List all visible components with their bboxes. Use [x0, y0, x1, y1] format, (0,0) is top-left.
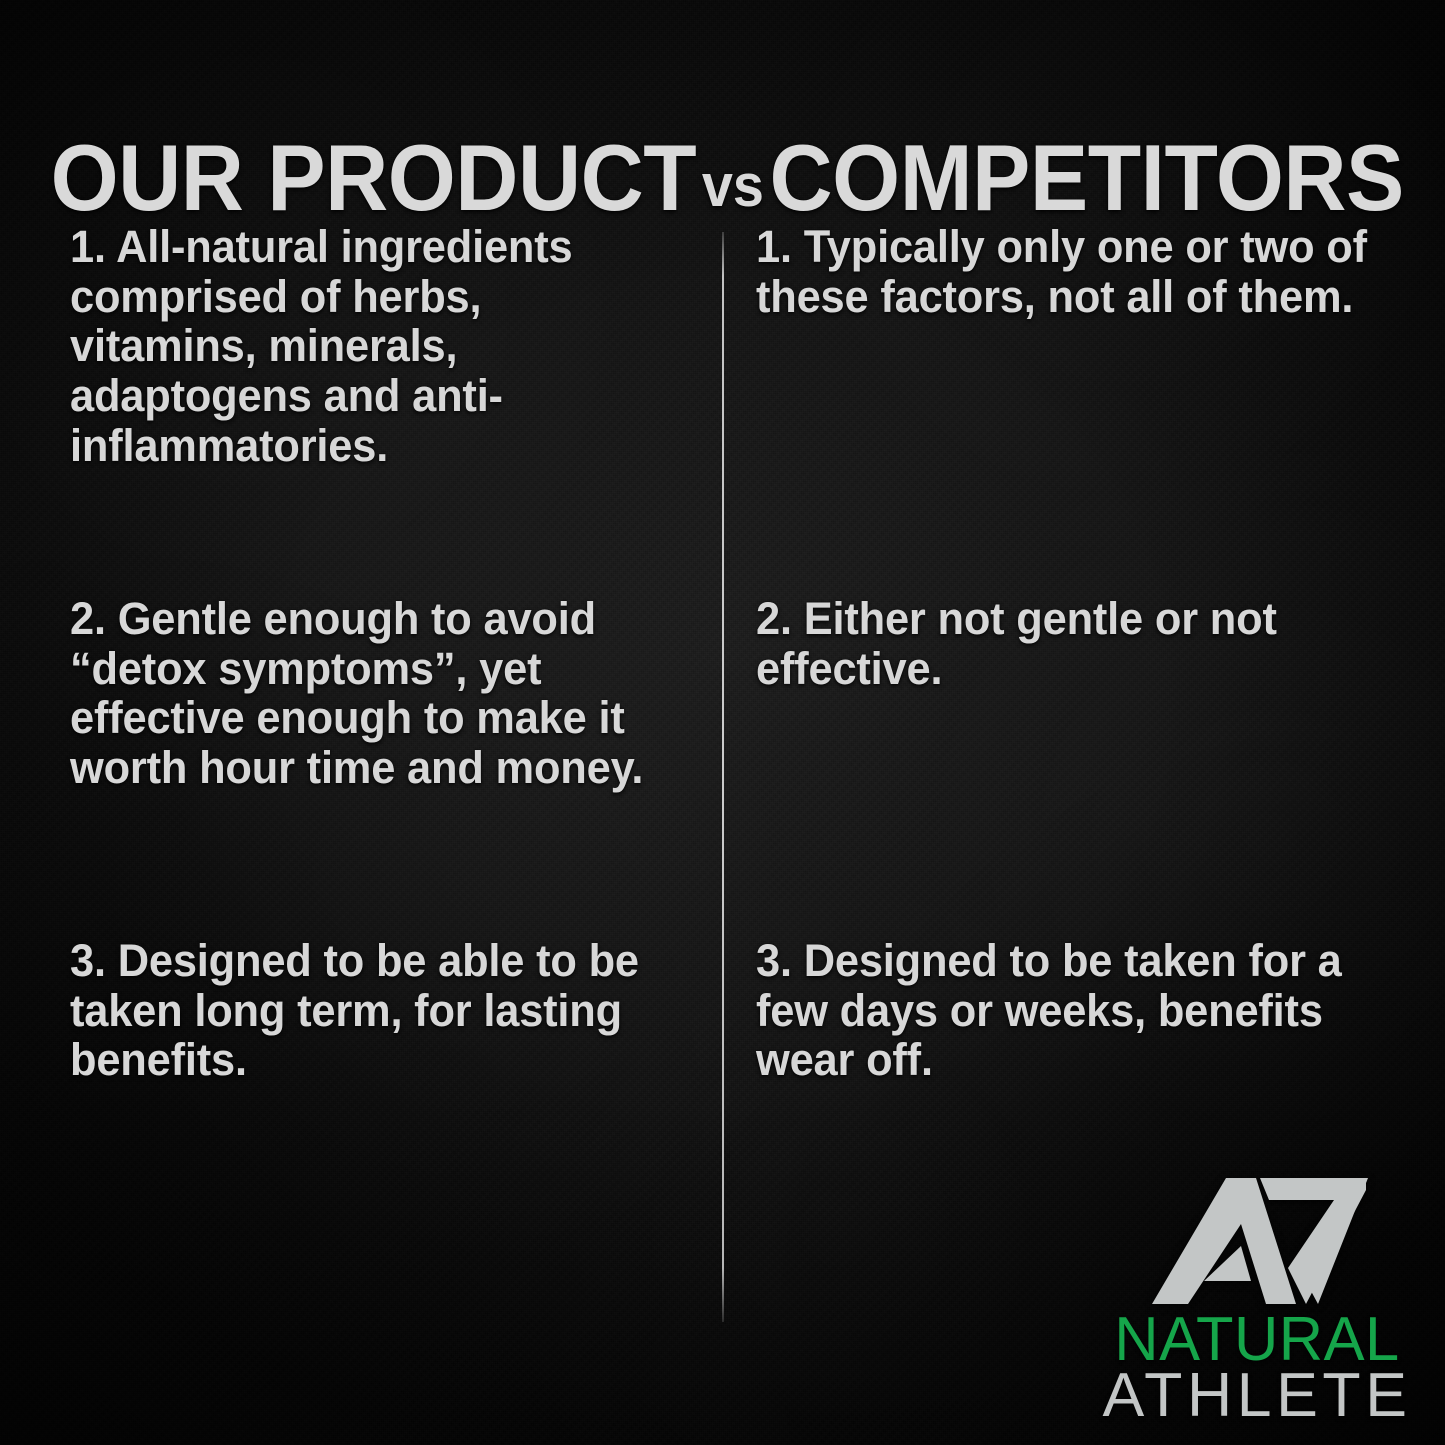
brand-logo: NATURAL ATHLETE — [1096, 1176, 1418, 1408]
our-product-point-3: 3. Designed to be able to be taken long … — [70, 936, 678, 1085]
column-divider — [722, 232, 724, 1322]
natural-athlete-av-monogram-icon — [1148, 1176, 1370, 1306]
competitors-point-3: 3. Designed to be taken for a few days o… — [756, 936, 1374, 1085]
competitors-point-2: 2. Either not gentle or not effective. — [756, 594, 1374, 693]
title-vs: vs — [696, 152, 769, 219]
competitors-point-1: 1. Typically only one or two of these fa… — [756, 222, 1374, 321]
title-our-product: OUR PRODUCT — [51, 125, 697, 230]
our-product-point-1: 1. All-natural ingredients comprised of … — [70, 222, 678, 471]
logo-wordmark-athlete: ATHLETE — [1094, 1365, 1419, 1427]
page-title: OUR PRODUCTvsCOMPETITORS — [51, 131, 1395, 225]
our-product-point-2: 2. Gentle enough to avoid “detox symptom… — [70, 594, 678, 793]
promo-graphic-canvas: OUR PRODUCTvsCOMPETITORS 1. All-natural … — [0, 0, 1445, 1445]
title-competitors: COMPETITORS — [769, 125, 1403, 230]
